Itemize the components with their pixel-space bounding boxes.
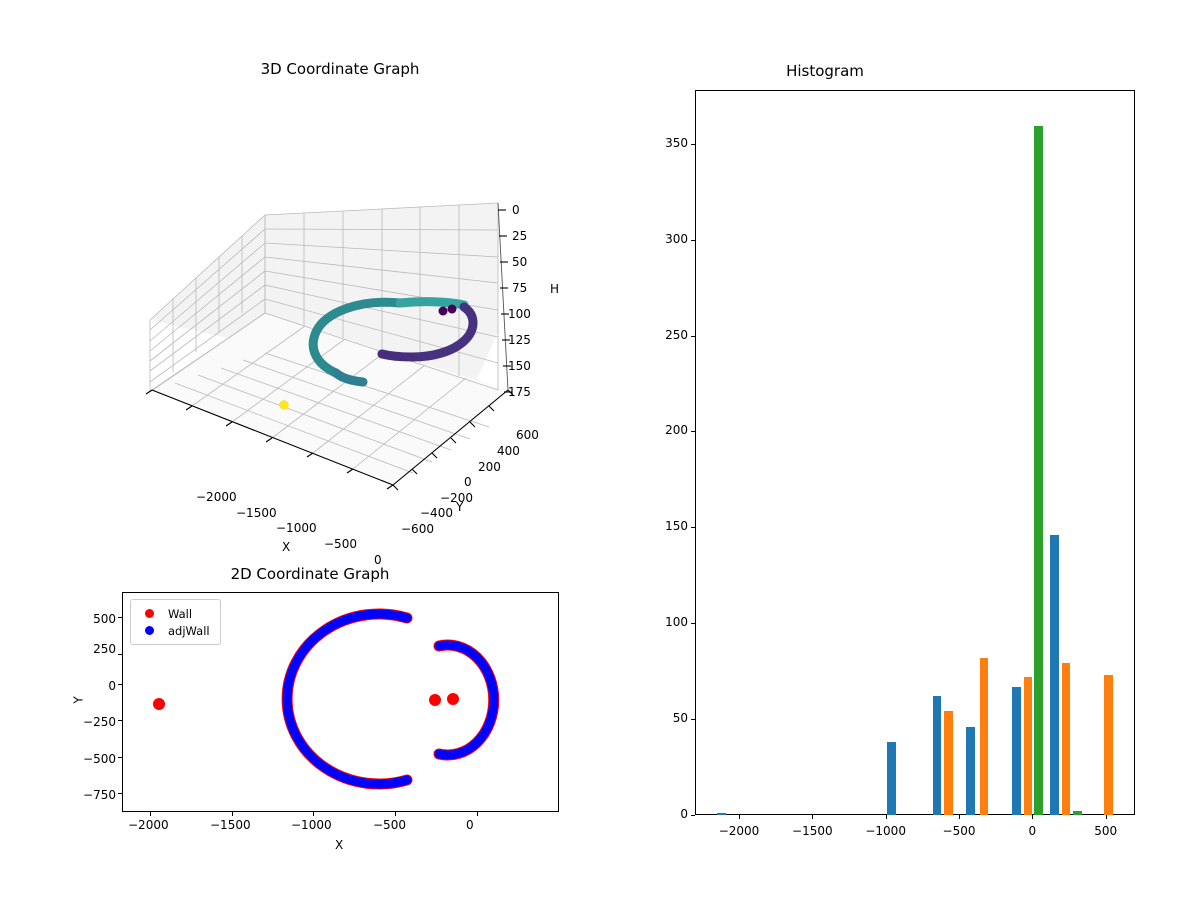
plot-3d-xlabel: X bbox=[282, 540, 290, 554]
histogram-title: Histogram bbox=[555, 62, 1095, 80]
plot-2d-xtick-4: 0 bbox=[466, 818, 474, 832]
xtick-mark bbox=[232, 812, 233, 816]
plot-2d-ytick-4: −500 bbox=[60, 752, 116, 766]
histogram-ytick: 250 bbox=[640, 328, 688, 342]
plot-2d-ylabel: Y bbox=[72, 696, 86, 703]
ytick-mark bbox=[118, 793, 122, 794]
histogram-bar bbox=[980, 658, 989, 815]
histogram-bar bbox=[1024, 677, 1033, 815]
plot-3d-ztick-3: 75 bbox=[512, 281, 527, 295]
histogram-ytick-mark bbox=[691, 719, 695, 720]
plot-3d-ztick-7: 175 bbox=[508, 385, 531, 399]
plot-2d-legend: Wall adjWall bbox=[130, 599, 221, 645]
histogram-ytick-mark bbox=[691, 623, 695, 624]
histogram-bar bbox=[887, 742, 896, 815]
xtick-mark bbox=[150, 812, 151, 816]
histogram-bar bbox=[1062, 663, 1071, 815]
histogram-bar bbox=[1012, 687, 1021, 816]
xtick-mark bbox=[313, 812, 314, 816]
histogram-xtick: 0 bbox=[1008, 824, 1056, 838]
plot-3d-ytick-3: 0 bbox=[464, 475, 472, 489]
plot-3d-ztick-0: 0 bbox=[512, 203, 520, 217]
plot-2d-xtick-2: −1000 bbox=[291, 818, 332, 832]
histogram-ytick: 300 bbox=[640, 232, 688, 246]
ytick-mark bbox=[118, 684, 122, 685]
plot-3d-ztick-4: 100 bbox=[508, 307, 531, 321]
plot-3d-ytick-5: 400 bbox=[497, 444, 520, 458]
plot-2d-xtick-3: −500 bbox=[373, 818, 406, 832]
plot-2d-xtick-0: −2000 bbox=[128, 818, 169, 832]
ytick-mark bbox=[118, 617, 122, 618]
histogram-ytick-mark bbox=[691, 240, 695, 241]
histogram-ytick: 200 bbox=[640, 423, 688, 437]
plot-2d-ytick-5: −750 bbox=[60, 788, 116, 802]
wall-point bbox=[153, 698, 165, 710]
histogram-bar bbox=[1073, 811, 1082, 815]
plot-3d-ytick-1: −400 bbox=[420, 506, 453, 520]
plot-2d-ytick-1: 250 bbox=[60, 642, 116, 656]
histogram-bar bbox=[1034, 126, 1043, 815]
histogram-ytick-mark bbox=[691, 336, 695, 337]
histogram-xtick-mark bbox=[959, 815, 960, 819]
legend-item-wall: Wall bbox=[138, 605, 210, 622]
histogram-xtick: −2000 bbox=[715, 824, 763, 838]
plot-3d-zlabel: H bbox=[550, 282, 559, 296]
histogram-ytick-mark bbox=[691, 144, 695, 145]
histogram-bar bbox=[944, 711, 953, 815]
plot-3d-ytick-0: −600 bbox=[401, 522, 434, 536]
histogram-bars-container bbox=[695, 90, 1135, 815]
plot-2d-ytick-2: 0 bbox=[60, 679, 116, 693]
plot-3d-ztick-5: 125 bbox=[508, 333, 531, 347]
legend-label-wall: Wall bbox=[168, 607, 192, 621]
histogram-bar bbox=[966, 727, 975, 815]
wall-marker-icon bbox=[145, 609, 154, 618]
plot-3d-ytick-4: 200 bbox=[478, 460, 501, 474]
legend-label-adjwall: adjWall bbox=[168, 624, 210, 638]
plot-2d-ytick-0: 500 bbox=[60, 612, 116, 626]
plot-2d-canvas: Wall adjWall bbox=[122, 592, 559, 812]
histogram-ytick-mark bbox=[691, 527, 695, 528]
histogram-ytick-mark bbox=[691, 815, 695, 816]
histogram-ytick: 150 bbox=[640, 519, 688, 533]
wall-point bbox=[429, 694, 441, 706]
plot-3d-ztick-1: 25 bbox=[512, 229, 527, 243]
legend-item-adjwall: adjWall bbox=[138, 622, 210, 639]
histogram-bar bbox=[1050, 535, 1059, 815]
histogram-ytick: 0 bbox=[640, 807, 688, 821]
histogram-bar bbox=[717, 813, 726, 815]
plot-2d-xlabel: X bbox=[335, 838, 343, 852]
plot-3d-xtick-3: −500 bbox=[324, 537, 357, 551]
histogram-xtick: −1000 bbox=[862, 824, 910, 838]
plot-3d-xtick-1: −1500 bbox=[236, 506, 277, 520]
plot-3d-xtick-0: −2000 bbox=[196, 490, 237, 504]
matplotlib-figure: 3D Coordinate Graph bbox=[0, 0, 1200, 900]
plot-2d-xtick-1: −1500 bbox=[210, 818, 251, 832]
plot-3d-xtick-2: −1000 bbox=[276, 521, 317, 535]
histogram-bar bbox=[933, 696, 942, 815]
histogram-bar bbox=[1104, 675, 1113, 815]
histogram-xtick-mark bbox=[886, 815, 887, 819]
histogram-xtick-mark bbox=[739, 815, 740, 819]
histogram-xtick-mark bbox=[812, 815, 813, 819]
plot-3d-ytick-6: 600 bbox=[516, 428, 539, 442]
xtick-mark bbox=[477, 812, 478, 816]
plot-3d-ztick-2: 50 bbox=[512, 255, 527, 269]
ytick-mark bbox=[118, 720, 122, 721]
plot-3d-ylabel: Y bbox=[456, 500, 463, 514]
plot-2d-ytick-3: −250 bbox=[60, 715, 116, 729]
plot-3d-coordinate-graph: 3D Coordinate Graph bbox=[60, 60, 620, 520]
histogram-ytick-mark bbox=[691, 431, 695, 432]
plot-3d-ztick-6: 150 bbox=[508, 359, 531, 373]
adjwall-marker-icon bbox=[145, 626, 154, 635]
histogram-xtick-mark bbox=[1032, 815, 1033, 819]
histogram-xtick: 500 bbox=[1082, 824, 1130, 838]
plot-histogram: Histogram 050100150200250300350 −2000−15… bbox=[640, 60, 1180, 860]
histogram-ytick: 100 bbox=[640, 615, 688, 629]
xtick-mark bbox=[395, 812, 396, 816]
plot-2d-title: 2D Coordinate Graph bbox=[30, 565, 590, 583]
histogram-ytick: 50 bbox=[640, 711, 688, 725]
wall-point bbox=[447, 693, 459, 705]
ytick-mark bbox=[118, 757, 122, 758]
ytick-mark bbox=[118, 654, 122, 655]
histogram-xtick: −1500 bbox=[788, 824, 836, 838]
histogram-xtick-mark bbox=[1106, 815, 1107, 819]
histogram-ytick: 350 bbox=[640, 136, 688, 150]
histogram-xtick: −500 bbox=[935, 824, 983, 838]
plot-2d-coordinate-graph: 2D Coordinate Graph Wall adjWall bbox=[60, 560, 620, 860]
plot-3d-canvas bbox=[60, 60, 620, 520]
